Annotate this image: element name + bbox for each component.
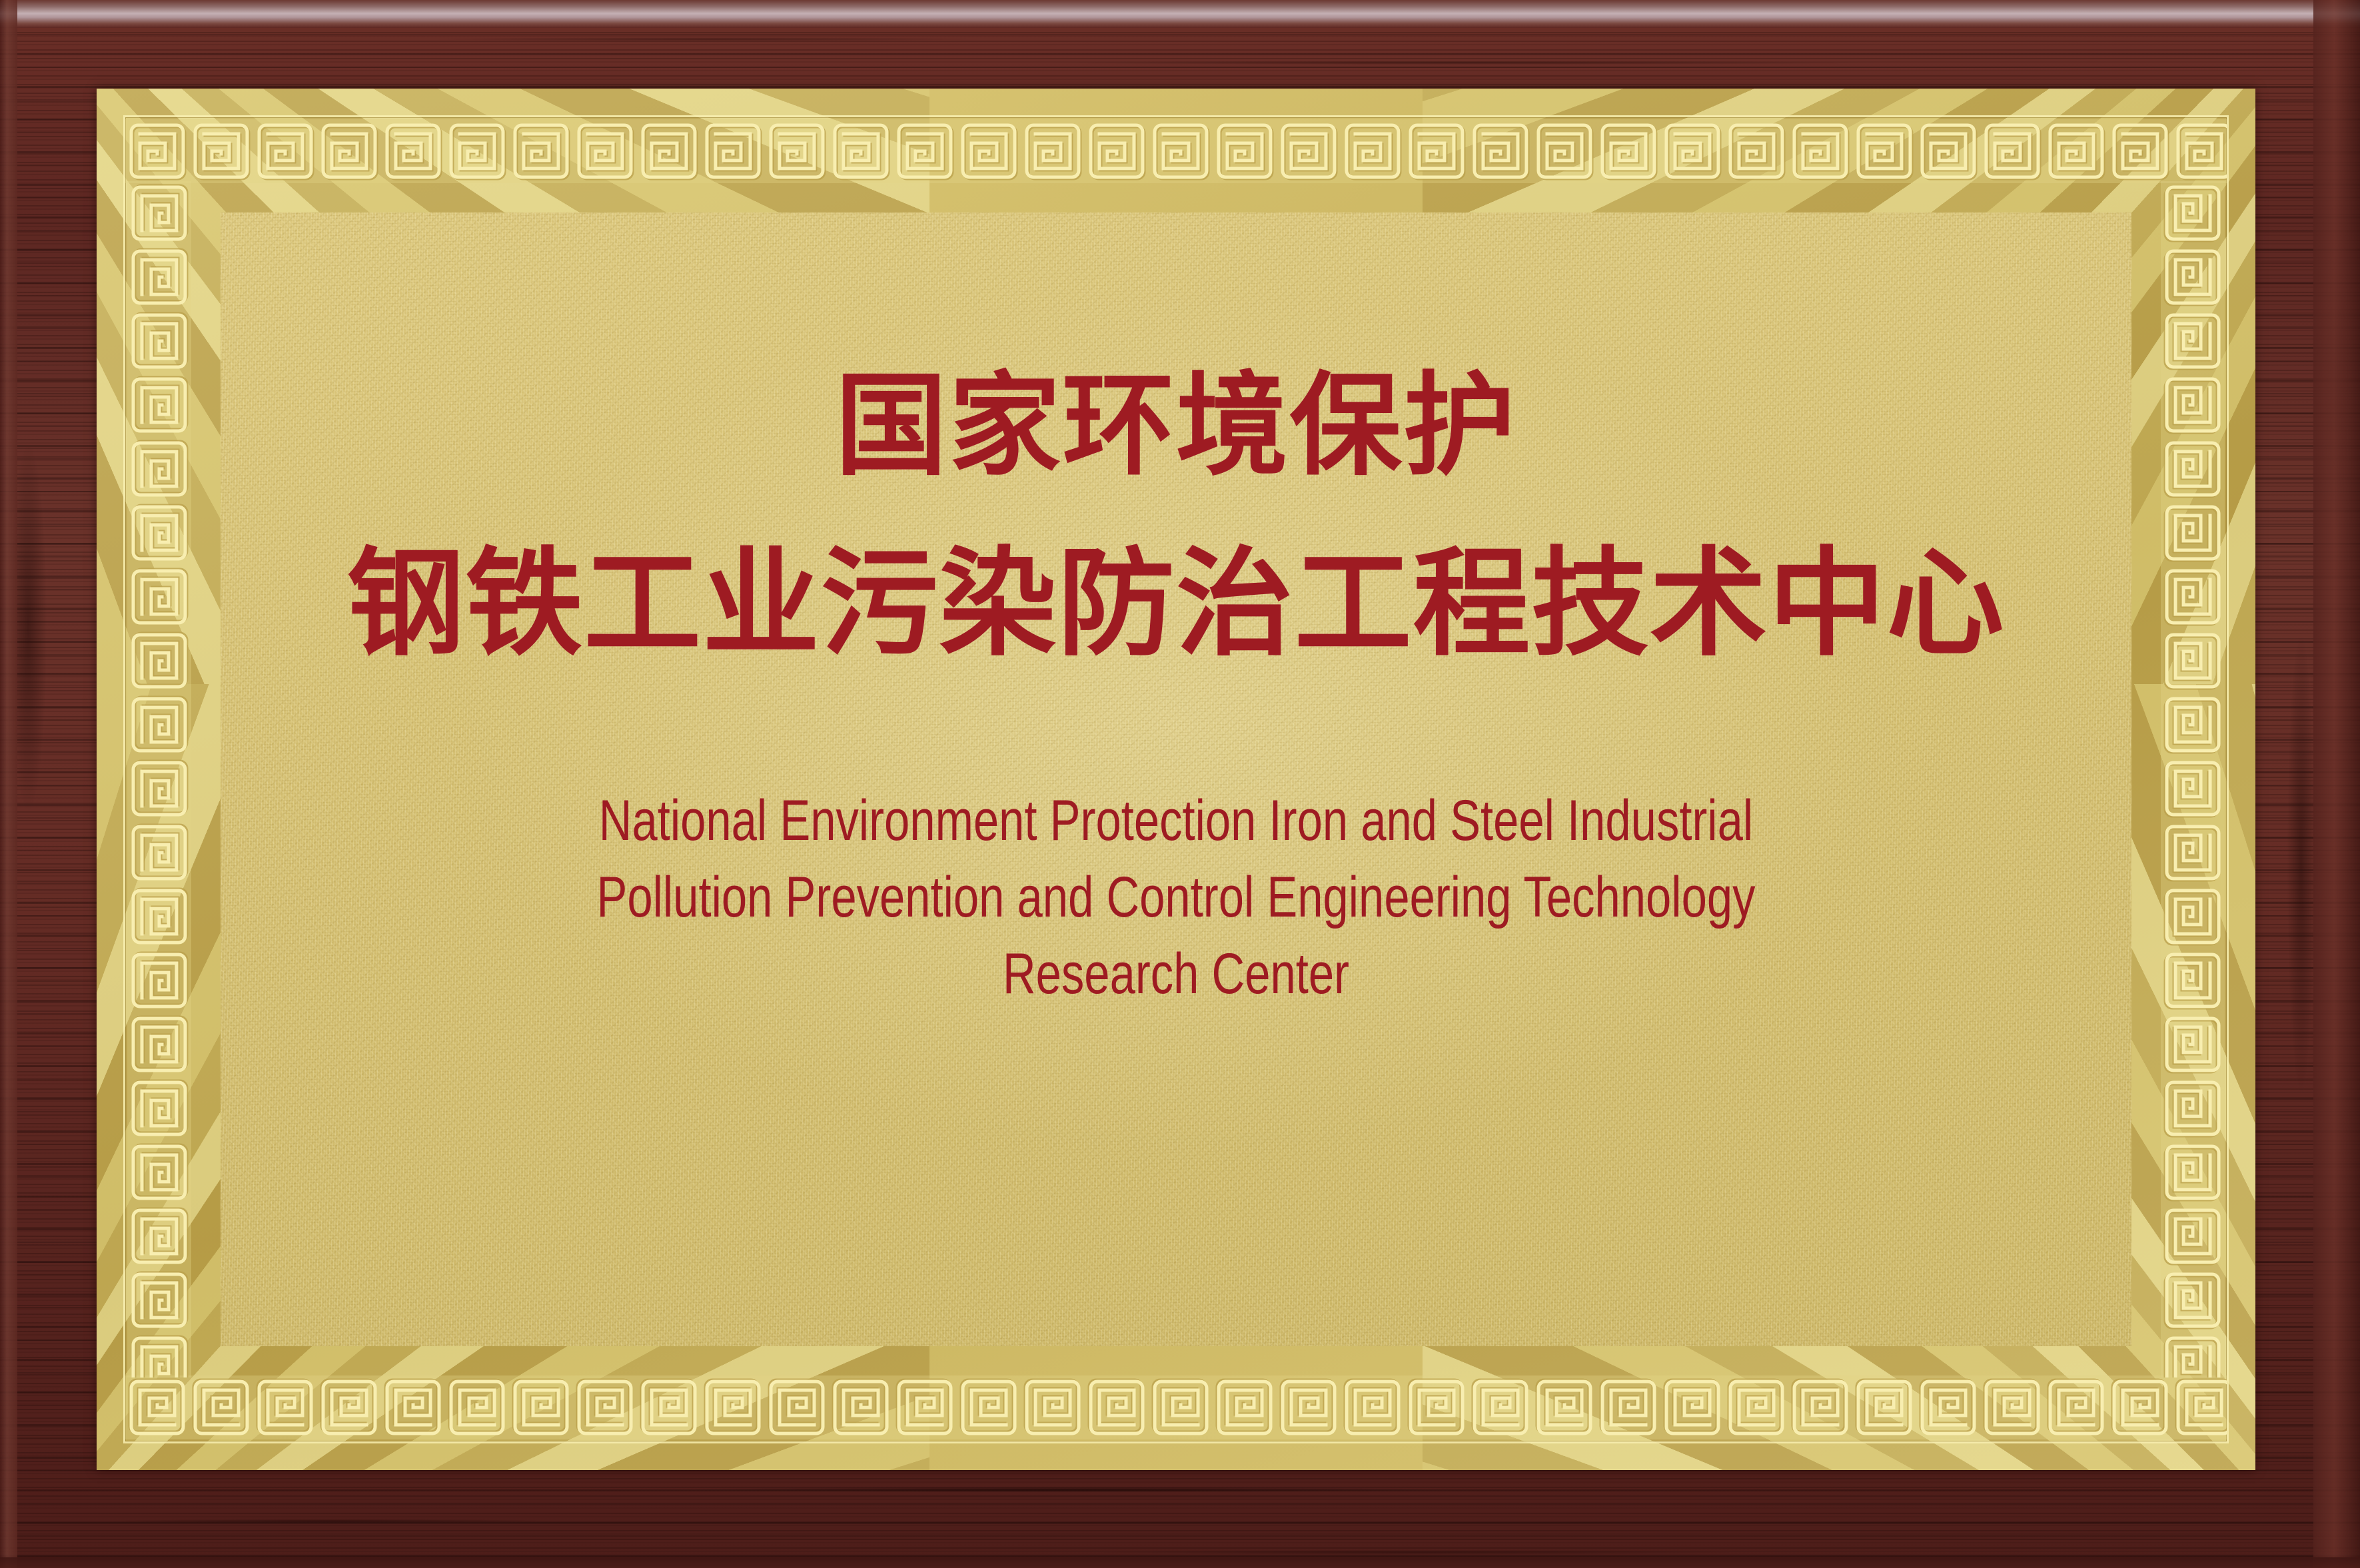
frame-top-highlight bbox=[0, 0, 2360, 28]
chinese-title-line-1: 国家环境保护 bbox=[221, 370, 2131, 482]
meander-band-right bbox=[2161, 181, 2225, 1377]
frame-right-bevel bbox=[2313, 0, 2360, 1568]
plaque-content: 国家环境保护 钢铁工业污染防治工程技术中心 National Environme… bbox=[221, 212, 2131, 1346]
meander-band-bottom bbox=[125, 1375, 2227, 1439]
chinese-title-line-2: 钢铁工业污染防治工程技术中心 bbox=[221, 546, 2131, 663]
english-title-line-2: Pollution Prevention and Control Enginee… bbox=[412, 859, 1940, 936]
frame-left-bevel bbox=[0, 0, 17, 1568]
meander-band-top bbox=[125, 119, 2227, 183]
meander-band-left bbox=[127, 181, 191, 1377]
award-plaque-image: 国家环境保护 钢铁工业污染防治工程技术中心 National Environme… bbox=[0, 0, 2360, 1568]
english-title-line-3: Research Center bbox=[412, 936, 1940, 1012]
english-title-line-1: National Environment Protection Iron and… bbox=[412, 783, 1940, 859]
english-title-block: National Environment Protection Iron and… bbox=[412, 783, 1940, 1013]
chinese-title-block: 国家环境保护 钢铁工业污染防治工程技术中心 bbox=[221, 212, 2131, 663]
inner-panel: 国家环境保护 钢铁工业污染防治工程技术中心 National Environme… bbox=[221, 212, 2131, 1346]
frame-bottom-shadow bbox=[0, 1557, 2360, 1568]
gold-plaque: 国家环境保护 钢铁工业污染防治工程技术中心 National Environme… bbox=[97, 89, 2255, 1470]
